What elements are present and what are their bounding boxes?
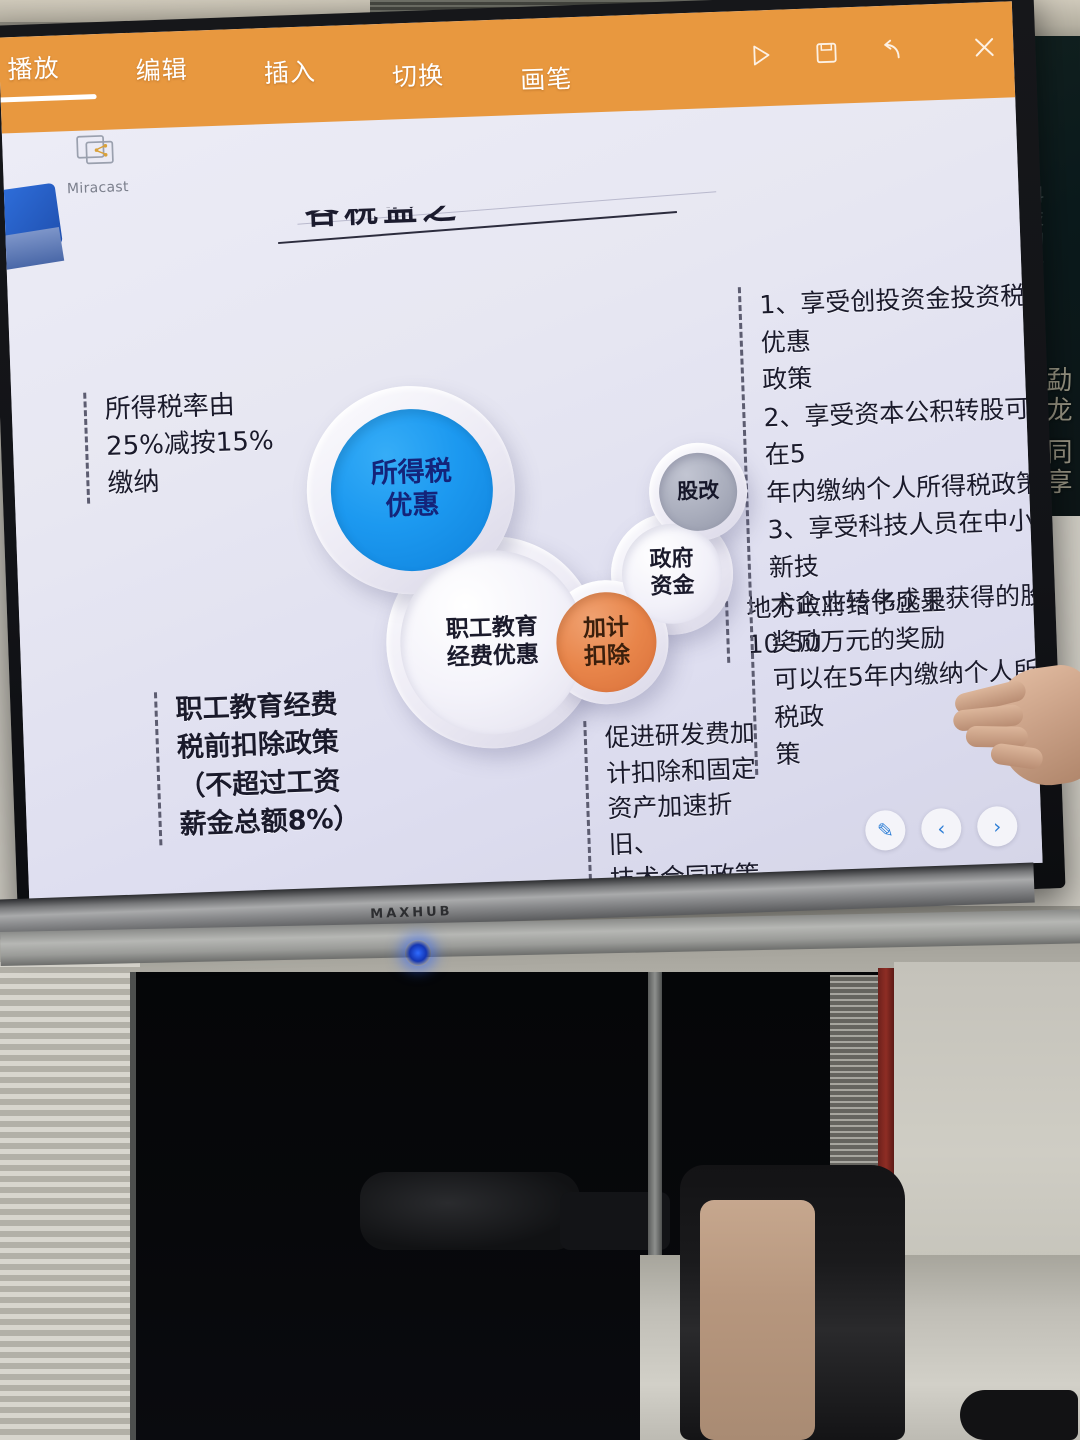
- tab-transition-label: 切换: [391, 56, 444, 94]
- tab-play[interactable]: 播放: [7, 48, 60, 86]
- tab-pen[interactable]: 画笔: [520, 59, 573, 97]
- device-brand-label: MAXHUB: [370, 904, 453, 922]
- tab-edit-label: 编辑: [135, 50, 188, 88]
- save-icon[interactable]: [809, 35, 844, 70]
- miracast-screen-share-icon: [74, 131, 120, 177]
- window-object: [360, 1172, 580, 1250]
- slide-controls: ✎ ‹ ›: [865, 806, 1018, 851]
- user-hand: [951, 628, 1080, 814]
- roller-shutter: [0, 962, 140, 1440]
- previous-slide-button[interactable]: ‹: [921, 808, 962, 849]
- miracast-label: Miracast: [67, 179, 129, 197]
- tab-insert[interactable]: 插入: [263, 52, 316, 90]
- tab-insert-label: 插入: [263, 52, 316, 90]
- tab-edit[interactable]: 编辑: [135, 50, 188, 88]
- active-tab-indicator: [0, 94, 97, 103]
- text-block-rd-deduction: 促进研发费加 计扣除和固定 资产加速折旧、 技术合同政策 的落实（175%）: [583, 714, 782, 899]
- tab-play-label: 播放: [7, 48, 60, 86]
- maxhub-display: 各税监之 所得税率由 25%减按15% 缴纳 职工教育经费 税前扣除政策 （不超…: [0, 0, 1066, 925]
- toolbar-action-icons: [743, 30, 1002, 73]
- power-indicator-led: [405, 940, 431, 966]
- presentation-slide[interactable]: 各税监之 所得税率由 25%减按15% 缴纳 职工教育经费 税前扣除政策 （不超…: [2, 89, 1043, 899]
- person-leg: [700, 1200, 815, 1440]
- pen-tool-button[interactable]: ✎: [865, 810, 906, 851]
- tab-transition[interactable]: 切换: [391, 56, 444, 94]
- close-icon[interactable]: [967, 30, 1002, 65]
- screenshot-root: 科技创新 勐龙 同享 各税监之: [0, 0, 1080, 1440]
- display-screen: 各税监之 所得税率由 25%减按15% 缴纳 职工教育经费 税前扣除政策 （不超…: [0, 1, 1043, 899]
- undo-icon[interactable]: [875, 33, 910, 68]
- tab-pen-label: 画笔: [520, 59, 573, 97]
- miracast-shortcut[interactable]: Miracast: [40, 130, 155, 212]
- page-title: 各税监之: [305, 198, 462, 234]
- person-shoe: [960, 1390, 1078, 1440]
- play-icon[interactable]: [743, 38, 778, 73]
- text-block-employee-education: 职工教育经费 税前扣除政策 （不超过工资 薪金总额8%）: [154, 683, 409, 845]
- text-block-income-tax: 所得税率由 25%减按15% 缴纳: [83, 384, 337, 504]
- toolbar-tabs: 播放 编辑 插入 切换 画笔: [0, 17, 572, 99]
- slide-title-container: 各税监之: [305, 198, 666, 251]
